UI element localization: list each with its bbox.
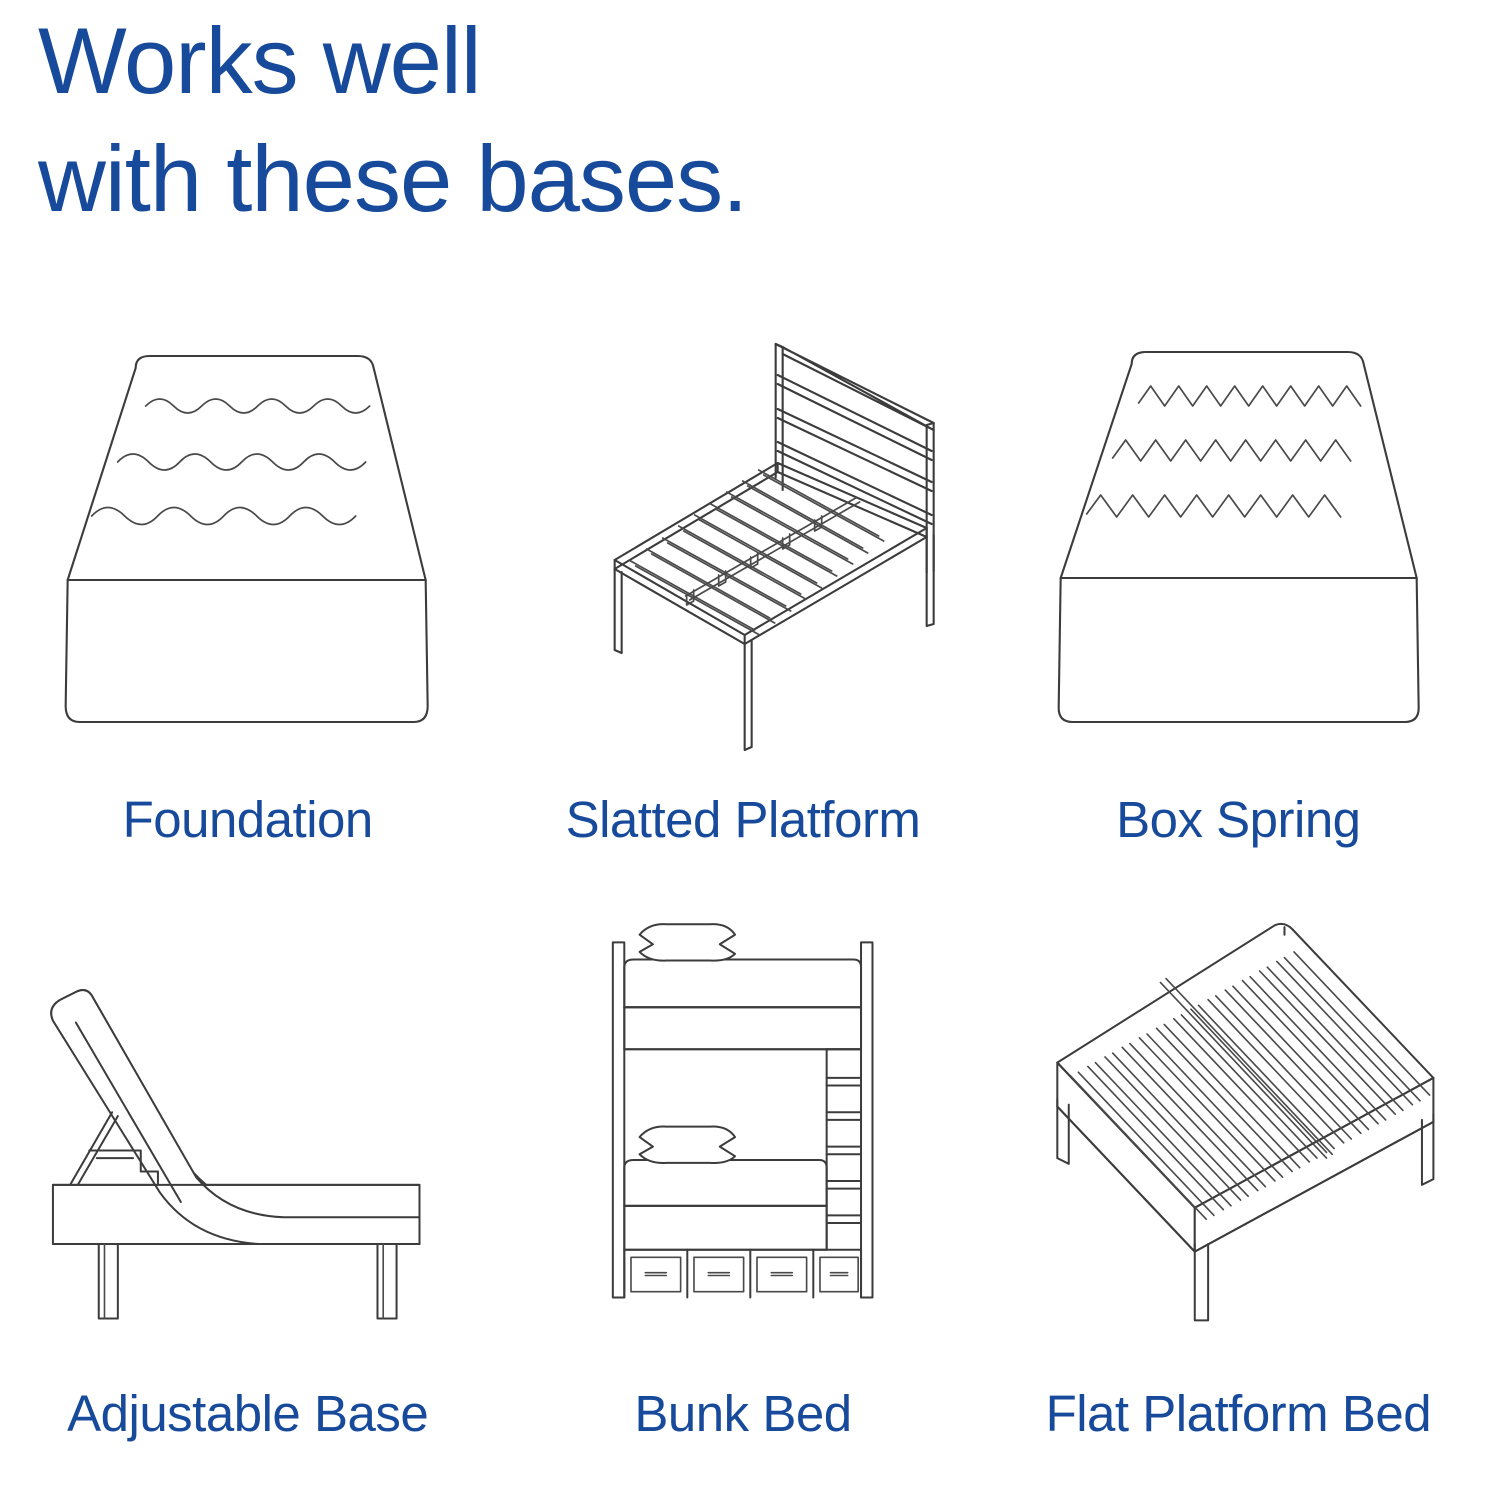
base-card-box-spring[interactable]: Box Spring xyxy=(991,330,1486,908)
bunk-bed-illustration xyxy=(495,908,990,1328)
base-label-box-spring: Box Spring xyxy=(1116,790,1360,849)
bases-grid: Foundation xyxy=(0,330,1486,1486)
base-label-flat-platform-bed: Flat Platform Bed xyxy=(1046,1384,1431,1443)
box-spring-illustration xyxy=(991,330,1486,770)
base-card-adjustable-base[interactable]: Adjustable Base xyxy=(0,908,495,1486)
bunk-bed-card[interactable]: Bunk Bed xyxy=(495,908,990,1486)
infographic-page: Works well with these bases. xyxy=(0,0,1486,1486)
flat-platform-bed-illustration xyxy=(991,908,1486,1328)
page-title: Works well with these bases. xyxy=(38,2,1038,237)
base-label-slatted-platform: Slatted Platform xyxy=(566,790,921,849)
base-card-flat-platform-bed[interactable]: Flat Platform Bed xyxy=(991,908,1486,1486)
base-label-foundation: Foundation xyxy=(123,790,373,849)
foundation-illustration xyxy=(0,330,495,770)
base-label-adjustable-base: Adjustable Base xyxy=(67,1384,428,1443)
base-label-bunk-bed: Bunk Bed xyxy=(634,1384,851,1443)
slatted-platform-illustration xyxy=(495,330,990,770)
adjustable-base-illustration xyxy=(0,908,495,1328)
base-card-foundation[interactable]: Foundation xyxy=(0,330,495,908)
base-card-slatted-platform[interactable]: Slatted Platform xyxy=(495,330,990,908)
